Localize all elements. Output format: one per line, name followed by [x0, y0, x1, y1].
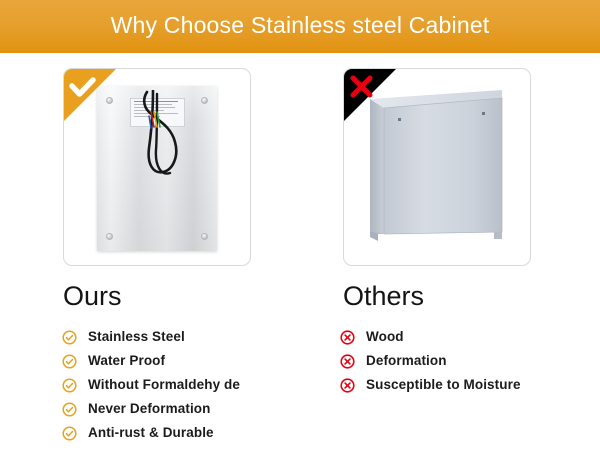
check-circle-icon	[62, 354, 77, 369]
cross-circle-icon	[340, 330, 355, 345]
check-circle-icon	[62, 426, 77, 441]
product-card-ours	[63, 68, 251, 266]
power-cable	[127, 90, 197, 195]
feature-label: Stainless Steel	[88, 330, 185, 344]
product-card-others	[343, 68, 531, 266]
feature-label: Without Formaldehy de	[88, 378, 240, 392]
page-title: Why Choose Stainless steel Cabinet	[111, 14, 490, 39]
list-item: Never Deformation	[62, 397, 240, 421]
list-item: Wood	[340, 325, 521, 349]
comparison-infographic: Why Choose Stainless steel Cabinet	[0, 0, 600, 450]
screw-icon	[201, 97, 208, 104]
screw-icon	[201, 233, 208, 240]
cross-circle-icon	[340, 378, 355, 393]
cross-circle-icon	[340, 354, 355, 369]
check-icon	[64, 69, 116, 121]
list-item: Water Proof	[62, 349, 240, 373]
feature-label: Deformation	[366, 354, 447, 368]
column-heading-ours: Ours	[63, 283, 122, 310]
check-circle-icon	[62, 330, 77, 345]
check-circle-icon	[62, 378, 77, 393]
list-item: Deformation	[340, 349, 521, 373]
screw-icon	[106, 233, 113, 240]
list-item: Stainless Steel	[62, 325, 240, 349]
list-item: Without Formaldehy de	[62, 373, 240, 397]
feature-label: Wood	[366, 330, 404, 344]
feature-label: Susceptible to Moisture	[366, 378, 521, 392]
feature-label: Never Deformation	[88, 402, 210, 416]
list-item: Anti-rust & Durable	[62, 421, 240, 445]
feature-label: Anti-rust & Durable	[88, 426, 214, 440]
cross-icon	[344, 69, 396, 121]
check-circle-icon	[62, 402, 77, 417]
column-heading-others: Others	[343, 283, 424, 310]
list-item: Susceptible to Moisture	[340, 373, 521, 397]
header-banner: Why Choose Stainless steel Cabinet	[0, 0, 600, 53]
feature-list-ours: Stainless Steel Water Proof Without Form…	[62, 325, 240, 445]
feature-label: Water Proof	[88, 354, 165, 368]
feature-list-others: Wood Deformation Susceptible to Moisture	[340, 325, 521, 397]
